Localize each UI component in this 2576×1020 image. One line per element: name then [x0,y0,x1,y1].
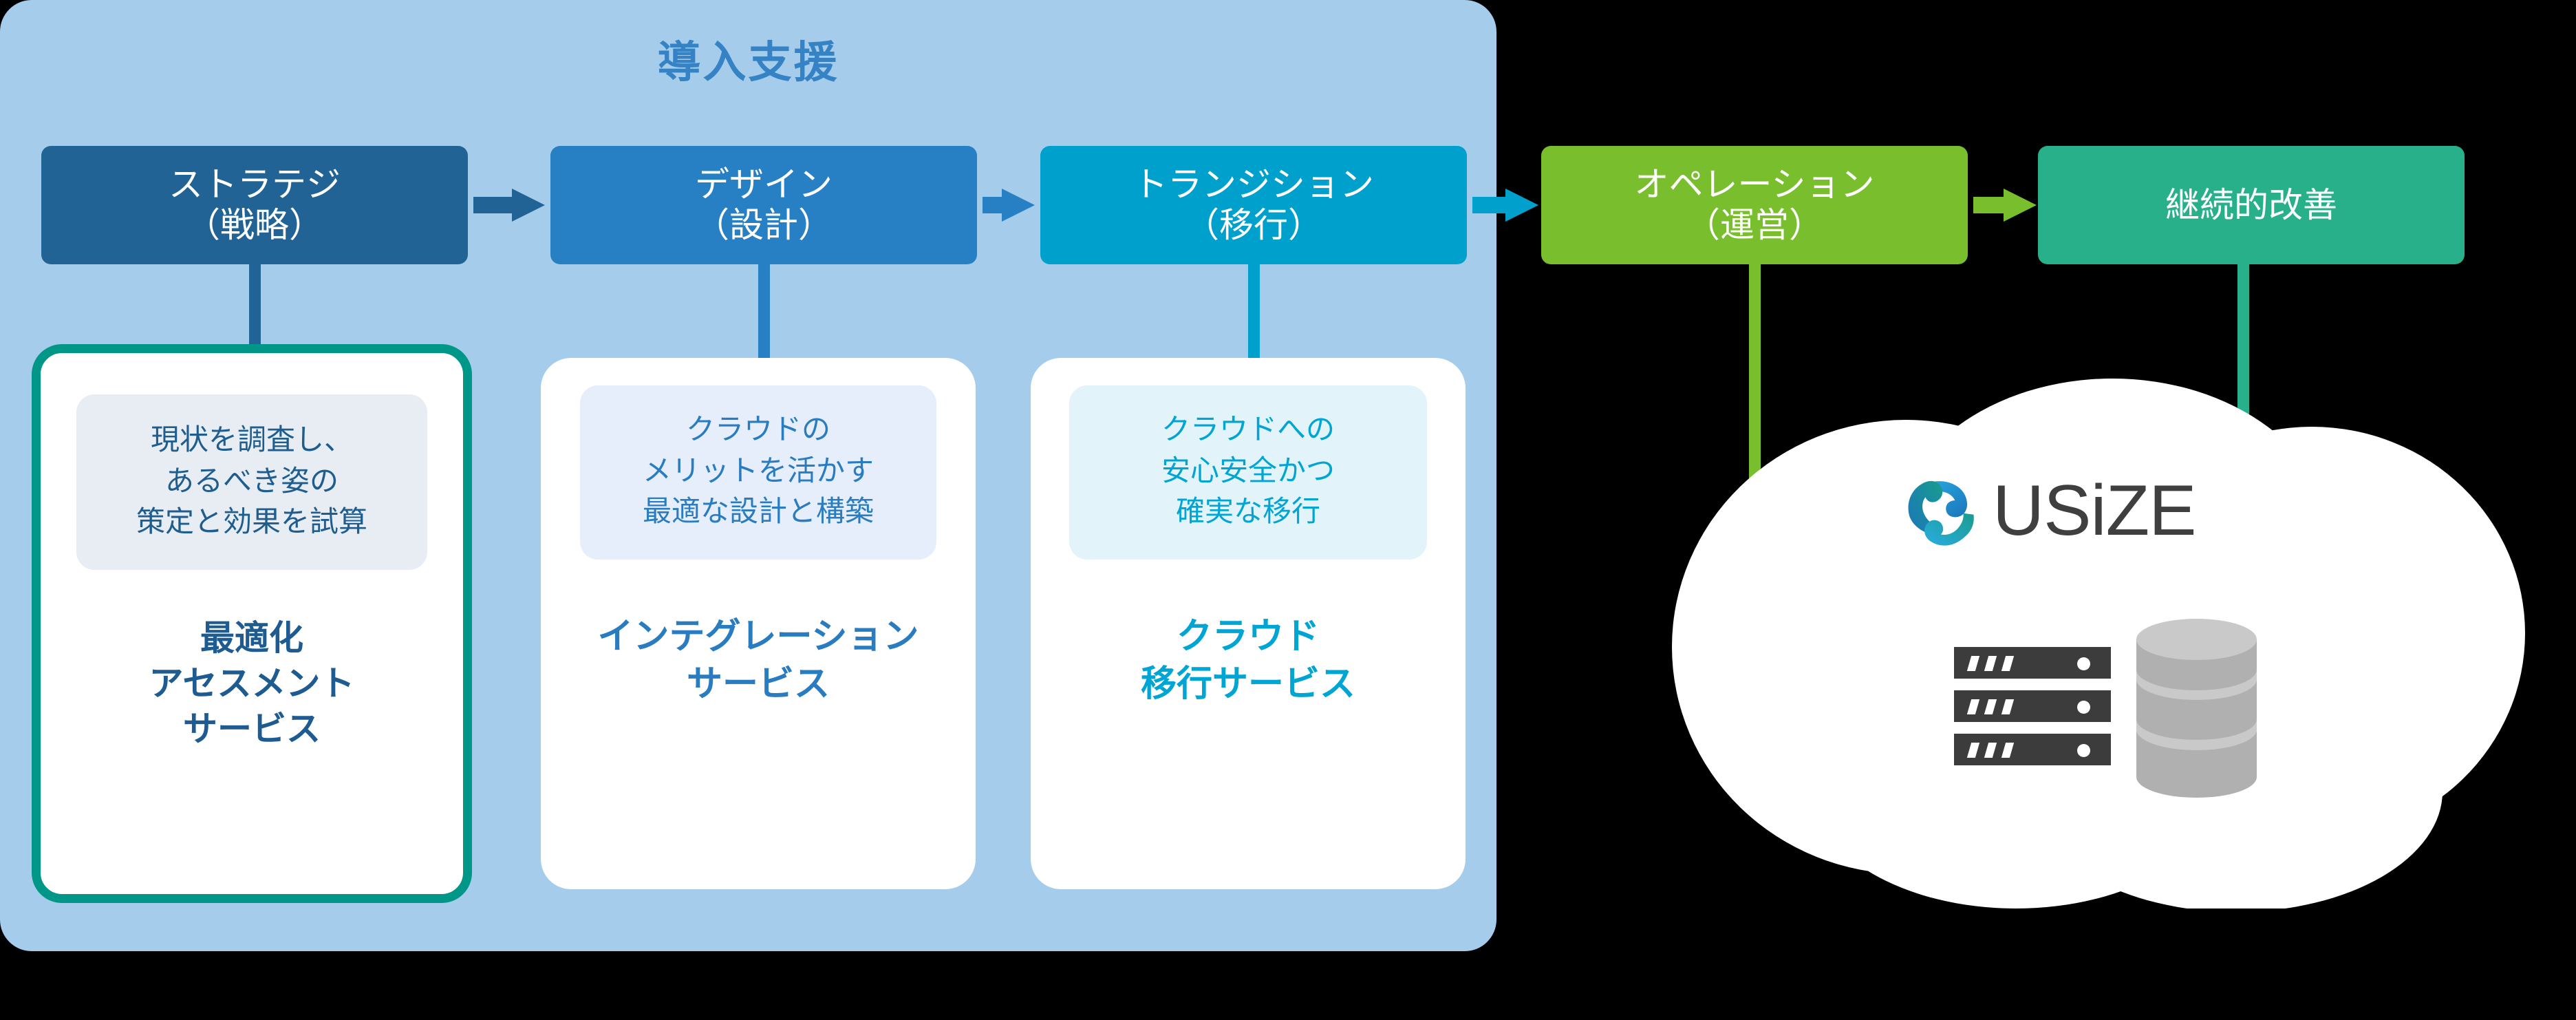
arrow-shaft [1973,197,2008,213]
database-icon [2133,616,2260,802]
vent-slash [1967,656,1979,671]
status-led-icon [2077,701,2090,714]
arrow-shaft [1472,197,1510,213]
arrow-head-icon [1505,189,1538,222]
arrow-strategy-to-design [473,189,545,222]
arrow-head-icon [1002,189,1035,222]
usize-swirl-icon [1900,472,1977,549]
server-unit [1954,734,2111,765]
service-card-blurb: 現状を調査し、 あるべき姿の 策定と効果を試算 [76,394,427,570]
diagram-canvas: 導入支援 ストラテジ （戦略） デザイン （設計） トランジション （移行） オ… [0,0,2576,1020]
service-card-title: インテグレーション サービス [598,613,919,708]
stage-box-improvement[interactable]: 継続的改善 [2038,146,2465,264]
vent-slash [1967,743,1979,758]
arrow-operation-to-improvement [1973,189,2037,222]
arrow-head-icon [512,189,545,222]
service-card-title: クラウド 移行サービス [1141,613,1355,708]
service-card-title: 最適化 アセスメント サービス [149,615,355,752]
status-led-icon [2077,744,2090,757]
stage-box-design[interactable]: デザイン （設計） [550,146,977,264]
status-led-icon [2077,657,2090,670]
stage-box-operation[interactable]: オペレーション （運営） [1541,146,1968,264]
usize-logo: USiZE [1900,472,2196,549]
usize-logo-text: USiZE [1993,475,2196,546]
service-card-blurb: クラウドへの 安心安全かつ 確実な移行 [1069,385,1427,560]
vent-slash [2001,743,2014,758]
vent-slash [1967,699,1979,714]
server-unit [1954,647,2111,679]
service-card-integration[interactable]: クラウドの メリットを活かす 最適な設計と構築 インテグレーション サービス [541,358,976,889]
vent-slash [1984,656,1997,671]
cloud-shape-icon [1631,372,2566,909]
arrow-shaft [473,197,516,213]
arrow-head-icon [2004,189,2037,222]
vent-slash [1984,699,1997,714]
connector-strategy-to-assessment-card [249,264,261,344]
vent-slash [1984,743,1997,758]
connector-transition-to-migration-card [1248,264,1260,358]
service-card-assessment[interactable]: 現状を調査し、 あるべき姿の 策定と効果を試算 最適化 アセスメント サービス [32,344,472,903]
vent-slash [2001,656,2014,671]
service-card-migration[interactable]: クラウドへの 安心安全かつ 確実な移行 クラウド 移行サービス [1031,358,1466,889]
arrow-transition-to-operation [1472,189,1538,222]
arrow-design-to-transition [983,189,1035,222]
connector-design-to-integration-card [758,264,770,358]
stage-box-transition[interactable]: トランジション （移行） [1040,146,1467,264]
stage-box-strategy[interactable]: ストラテジ （戦略） [41,146,468,264]
page-title: 導入支援 [0,28,1496,90]
server-unit [1954,690,2111,722]
server-rack-icon [1954,647,2111,777]
service-card-blurb: クラウドの メリットを活かす 最適な設計と構築 [580,385,936,560]
vent-slash [2001,699,2014,714]
